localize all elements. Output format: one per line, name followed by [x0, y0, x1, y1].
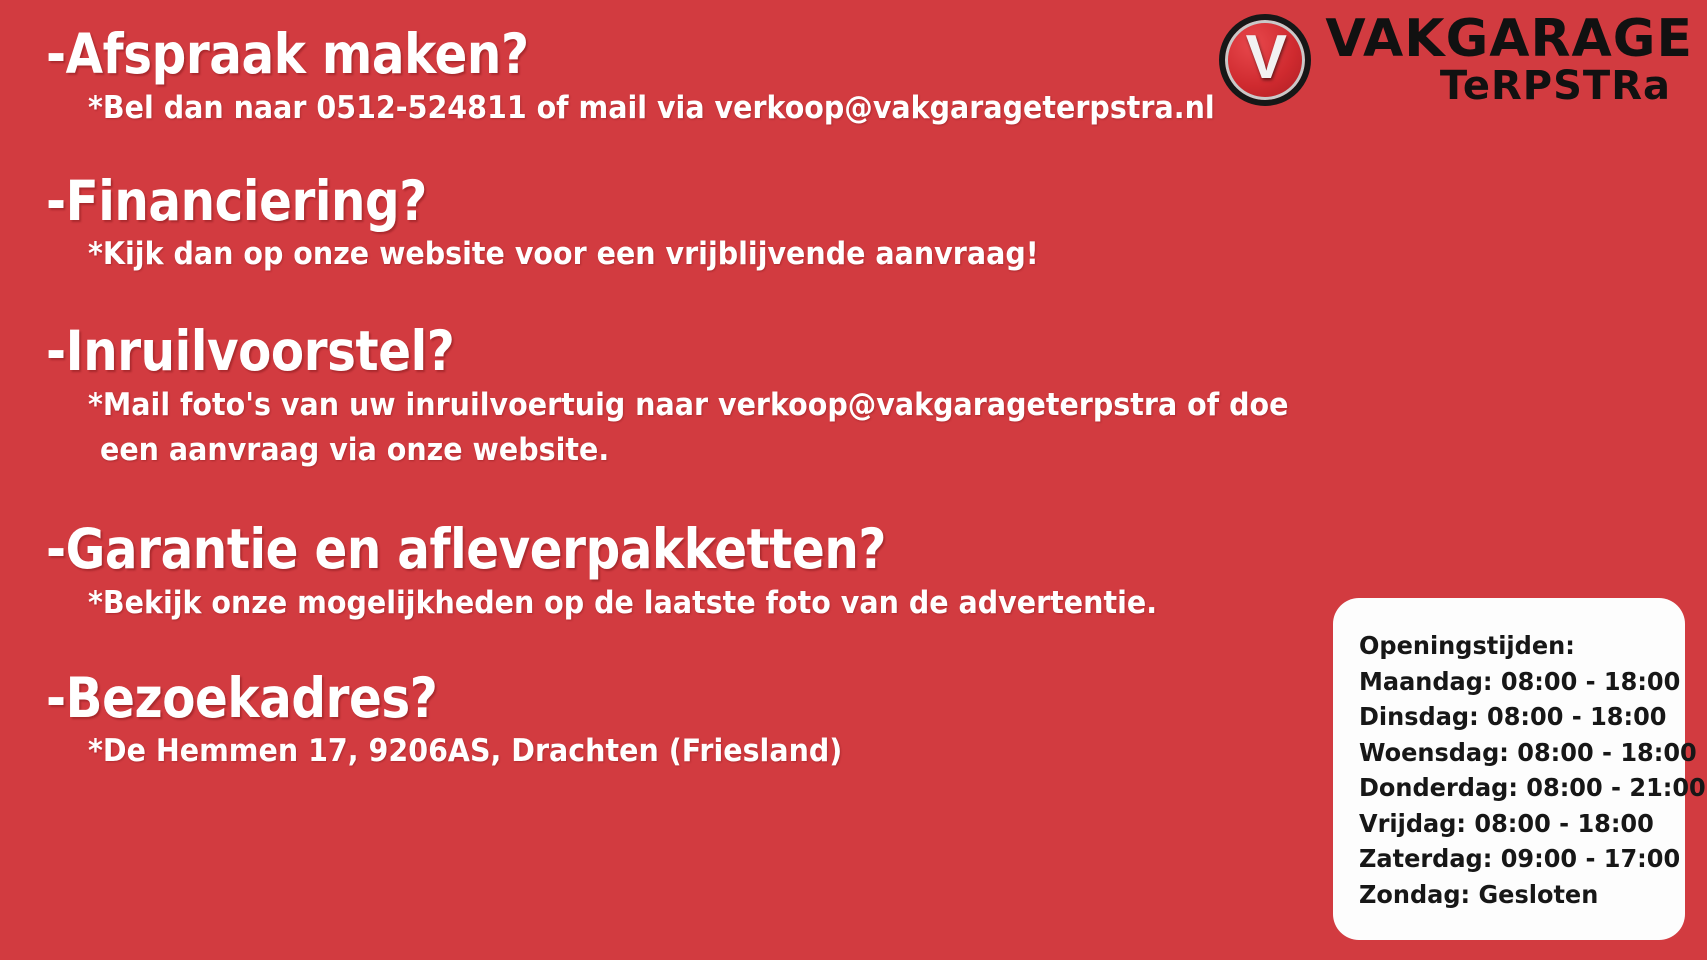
section-financiering: -Financiering? *Kijk dan op onze website…	[46, 173, 1346, 276]
logo-brand-name: VAKGARAGE	[1325, 14, 1693, 65]
section-heading: -Afspraak maken?	[46, 26, 1190, 84]
section-garantie: -Garantie en afleverpakketten? *Bekijk o…	[46, 521, 1346, 624]
section-heading: -Financiering?	[46, 173, 1190, 231]
section-heading: -Inruilvoorstel?	[46, 323, 1190, 381]
opening-hours-card: Openingstijden: Maandag: 08:00 - 18:00 D…	[1333, 598, 1685, 940]
section-bezoekadres: -Bezoekadres? *De Hemmen 17, 9206AS, Dra…	[46, 670, 1346, 773]
logo-brand-location: TeRPSTRa	[1440, 67, 1671, 106]
opening-hours-row-maandag: Maandag: 08:00 - 18:00	[1359, 664, 1647, 700]
opening-hours-row-woensdag: Woensdag: 08:00 - 18:00	[1359, 735, 1647, 771]
section-inruilvoorstel: -Inruilvoorstel? *Mail foto's van uw inr…	[46, 323, 1346, 471]
section-line: *De Hemmen 17, 9206AS, Drachten (Friesla…	[88, 731, 1245, 772]
opening-hours-row-zaterdag: Zaterdag: 09:00 - 17:00	[1359, 841, 1647, 877]
advertisement-poster: V VAKGARAGE TeRPSTRa -Afspraak maken? *B…	[0, 0, 1707, 960]
opening-hours-row-vrijdag: Vrijdag: 08:00 - 18:00	[1359, 806, 1647, 842]
opening-hours-row-donderdag: Donderdag: 08:00 - 21:00	[1359, 770, 1647, 806]
section-line: *Kijk dan op onze website voor een vrijb…	[88, 234, 1245, 275]
logo-wordmark: VAKGARAGE TeRPSTRa	[1325, 14, 1693, 106]
section-line: *Bel dan naar 0512-524811 of mail via ve…	[88, 88, 1245, 129]
section-heading: -Bezoekadres?	[46, 670, 1190, 728]
section-line: *Bekijk onze mogelijkheden op de laatste…	[88, 583, 1245, 624]
section-afspraak: -Afspraak maken? *Bel dan naar 0512-5248…	[46, 26, 1346, 129]
opening-hours-row-zondag: Zondag: Gesloten	[1359, 877, 1647, 913]
opening-hours-title: Openingstijden:	[1359, 628, 1647, 664]
section-line: *Mail foto's van uw inruilvoertuig naar …	[88, 385, 1245, 426]
opening-hours-row-dinsdag: Dinsdag: 08:00 - 18:00	[1359, 699, 1647, 735]
section-line: een aanvraag via onze website.	[100, 430, 1246, 471]
content-column: -Afspraak maken? *Bel dan naar 0512-5248…	[46, 26, 1346, 772]
section-heading: -Garantie en afleverpakketten?	[46, 521, 1190, 579]
